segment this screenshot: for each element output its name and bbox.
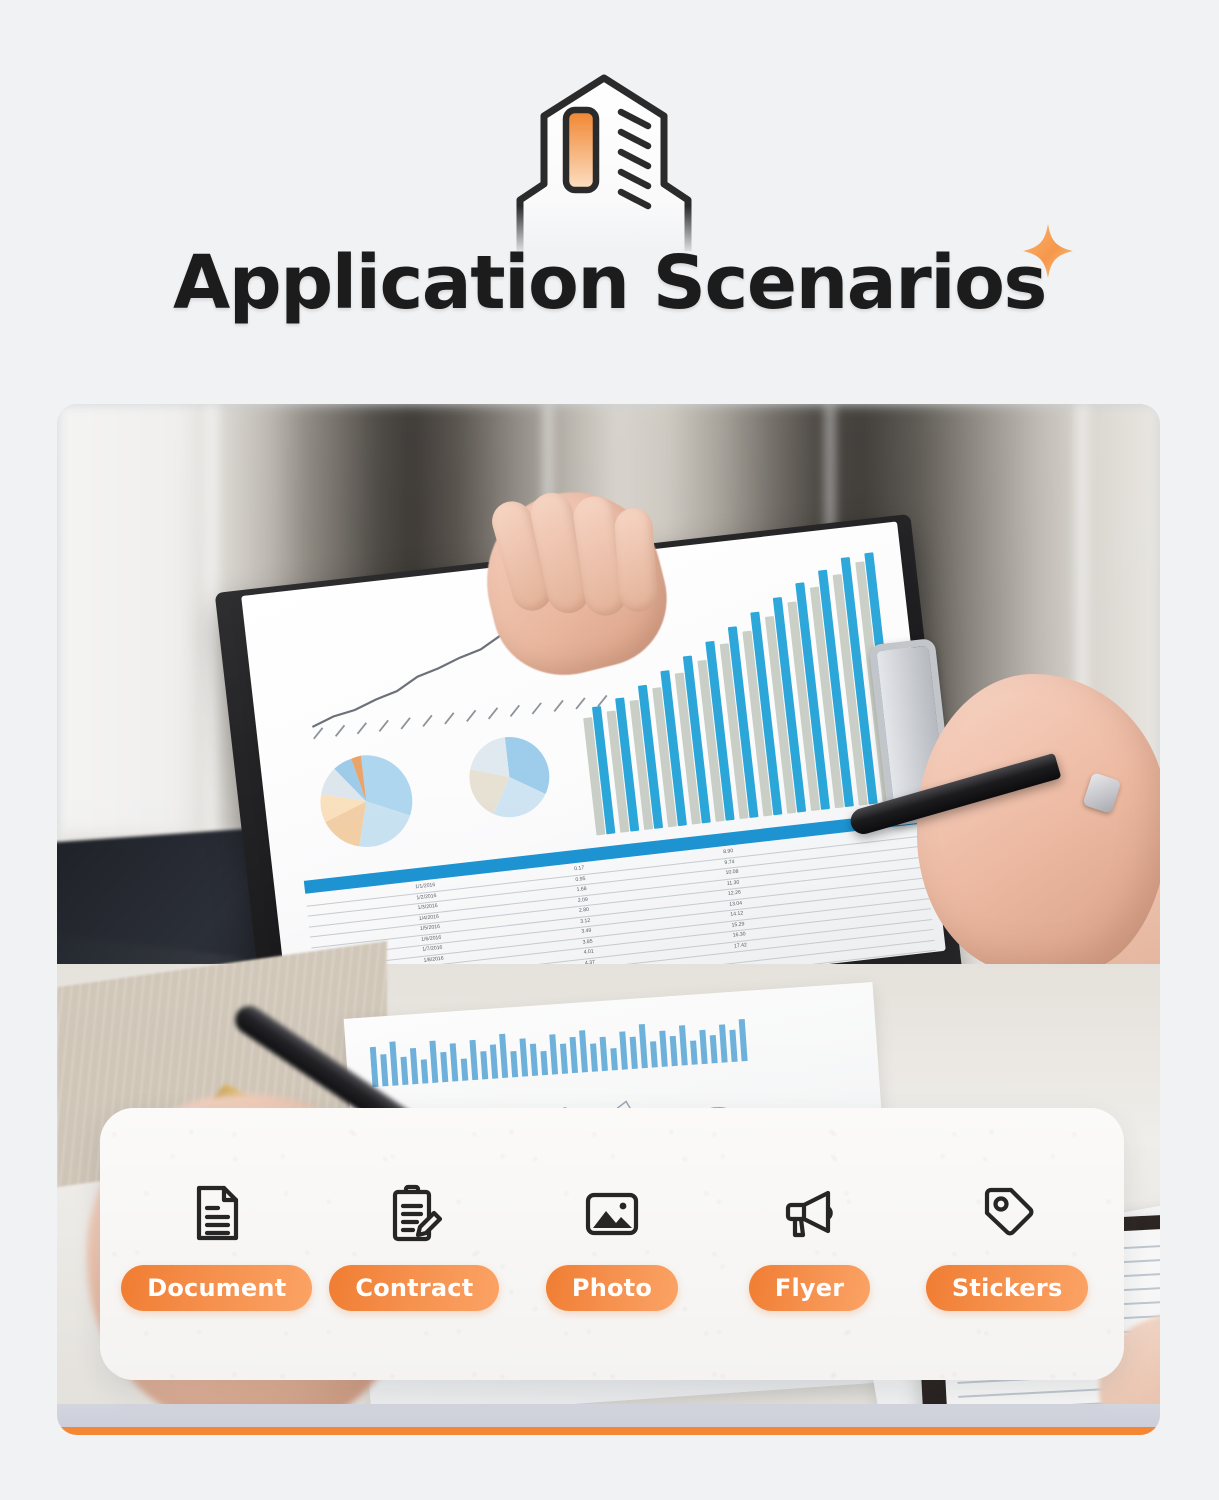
- megaphone-icon: [774, 1177, 846, 1249]
- sparkle-icon: [1021, 222, 1075, 280]
- page-header: Application Scenarios: [0, 0, 1219, 404]
- clipboard-pencil-icon: [378, 1177, 450, 1249]
- document-page-icon: [181, 1177, 253, 1249]
- price-tag-icon: [971, 1177, 1043, 1249]
- scenario-item-contract[interactable]: Contract: [324, 1177, 504, 1311]
- scenario-label-stickers[interactable]: Stickers: [926, 1265, 1089, 1311]
- building-tower-icon: [492, 66, 717, 251]
- report-pie-chart-2: [455, 730, 564, 825]
- page-title: Application Scenarios: [173, 246, 1046, 320]
- report-pie-chart-1: [302, 747, 430, 856]
- scenario-item-flyer[interactable]: Flyer: [720, 1177, 900, 1311]
- scenario-label-photo[interactable]: Photo: [546, 1265, 678, 1311]
- scenario-feature-card: Document Contract: [100, 1108, 1124, 1380]
- scenario-item-photo[interactable]: Photo: [522, 1177, 702, 1311]
- scenario-item-stickers[interactable]: Stickers: [917, 1177, 1097, 1311]
- image-photo-icon: [576, 1177, 648, 1249]
- photo-bottom-band: [57, 1404, 1160, 1428]
- scenario-item-document[interactable]: Document: [127, 1177, 307, 1311]
- scenario-items-row: Document Contract: [100, 1108, 1124, 1380]
- scenario-label-contract[interactable]: Contract: [329, 1265, 499, 1311]
- scenario-label-document[interactable]: Document: [121, 1265, 312, 1311]
- scenario-label-flyer[interactable]: Flyer: [749, 1265, 870, 1311]
- photo-accent-bar: [57, 1427, 1160, 1435]
